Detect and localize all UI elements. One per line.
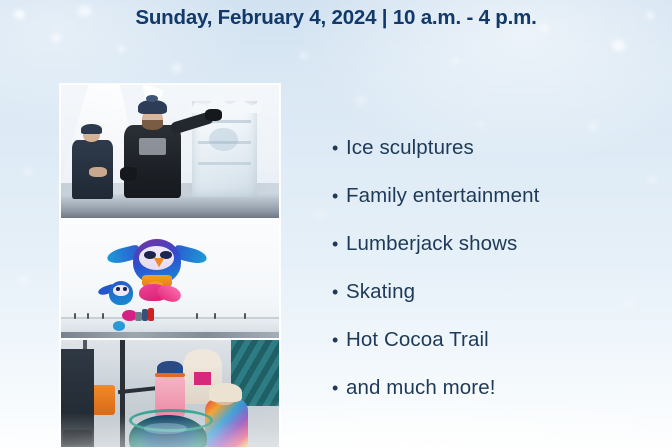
photo-collage — [60, 84, 280, 448]
spectator — [214, 313, 216, 319]
tree-line — [61, 332, 279, 338]
ice-sculpture-detail — [209, 128, 237, 152]
list-item-label: and much more! — [346, 376, 496, 400]
event-date-time-headline: Sunday, February 4, 2024 | 10 a.m. - 4 p… — [0, 6, 672, 30]
list-item: • Skating — [332, 280, 652, 328]
list-item: • Family entertainment — [332, 184, 652, 232]
spectator-grey-coat — [135, 312, 142, 321]
spectator — [244, 313, 246, 319]
owl-kites-photo — [60, 219, 280, 339]
list-item: • and much more! — [332, 376, 652, 424]
spectator — [87, 313, 89, 319]
bullet-icon: • — [332, 235, 346, 253]
bullet-icon: • — [332, 331, 346, 349]
list-item-label: Lumberjack shows — [346, 232, 517, 256]
list-item-label: Hot Cocoa Trail — [346, 328, 489, 352]
owl-kite-eye — [160, 251, 172, 259]
ice-sculptor-photo — [60, 84, 280, 219]
cream-coat-hood — [185, 349, 220, 368]
photo-canvas — [61, 220, 279, 338]
spectator — [196, 313, 198, 319]
background-person-hand — [89, 167, 106, 176]
ice-sculpture-line — [198, 162, 250, 165]
horizon-line — [61, 317, 279, 319]
winter-event-poster: Sunday, February 4, 2024 | 10 a.m. - 4 p… — [0, 0, 672, 448]
bullet-icon: • — [332, 139, 346, 157]
sculptor-glove — [205, 109, 222, 121]
bullet-icon: • — [332, 187, 346, 205]
snowflake-icon — [118, 46, 125, 52]
children-activity-photo — [60, 339, 280, 448]
snowflake-icon — [356, 96, 366, 105]
magenta-scarf — [194, 372, 211, 385]
list-item: • Hot Cocoa Trail — [332, 328, 652, 376]
snowflake-icon — [18, 276, 29, 285]
sculptor-glove — [120, 167, 137, 180]
owl-kite-eye — [144, 251, 156, 259]
background-person-hat — [81, 124, 103, 135]
bullet-icon: • — [332, 379, 346, 397]
snowflake-icon — [612, 40, 625, 51]
child-knit-hat — [209, 383, 242, 402]
list-item-label: Skating — [346, 280, 415, 304]
snowflake-icon — [52, 34, 61, 42]
child-cap-brim — [155, 373, 186, 377]
ice-sculpture-line — [198, 141, 250, 144]
list-item: • Lumberjack shows — [332, 232, 652, 280]
snowflake-icon — [316, 210, 325, 218]
snowflake-icon — [452, 58, 459, 64]
sculptor-jacket-graphic — [139, 138, 165, 155]
sculptor-body — [124, 125, 181, 198]
list-item-label: Ice sculptures — [346, 136, 474, 160]
spectator-blue-coat — [142, 309, 148, 321]
snowflake-icon — [24, 168, 32, 175]
railing-post — [120, 340, 125, 447]
spectator-red-coat — [148, 308, 154, 321]
snowflake-icon — [300, 52, 308, 59]
list-item: • Ice sculptures — [332, 136, 652, 184]
spectator — [74, 313, 76, 319]
snowflake-icon — [478, 122, 485, 128]
activities-list: • Ice sculptures • Family entertainment … — [332, 136, 652, 424]
photo-canvas — [61, 340, 279, 447]
photo-canvas — [61, 85, 279, 218]
winter-boot — [63, 430, 91, 445]
bullet-icon: • — [332, 283, 346, 301]
list-item-label: Family entertainment — [346, 184, 539, 208]
snowflake-icon — [172, 64, 181, 72]
snowflake-icon — [588, 122, 598, 131]
